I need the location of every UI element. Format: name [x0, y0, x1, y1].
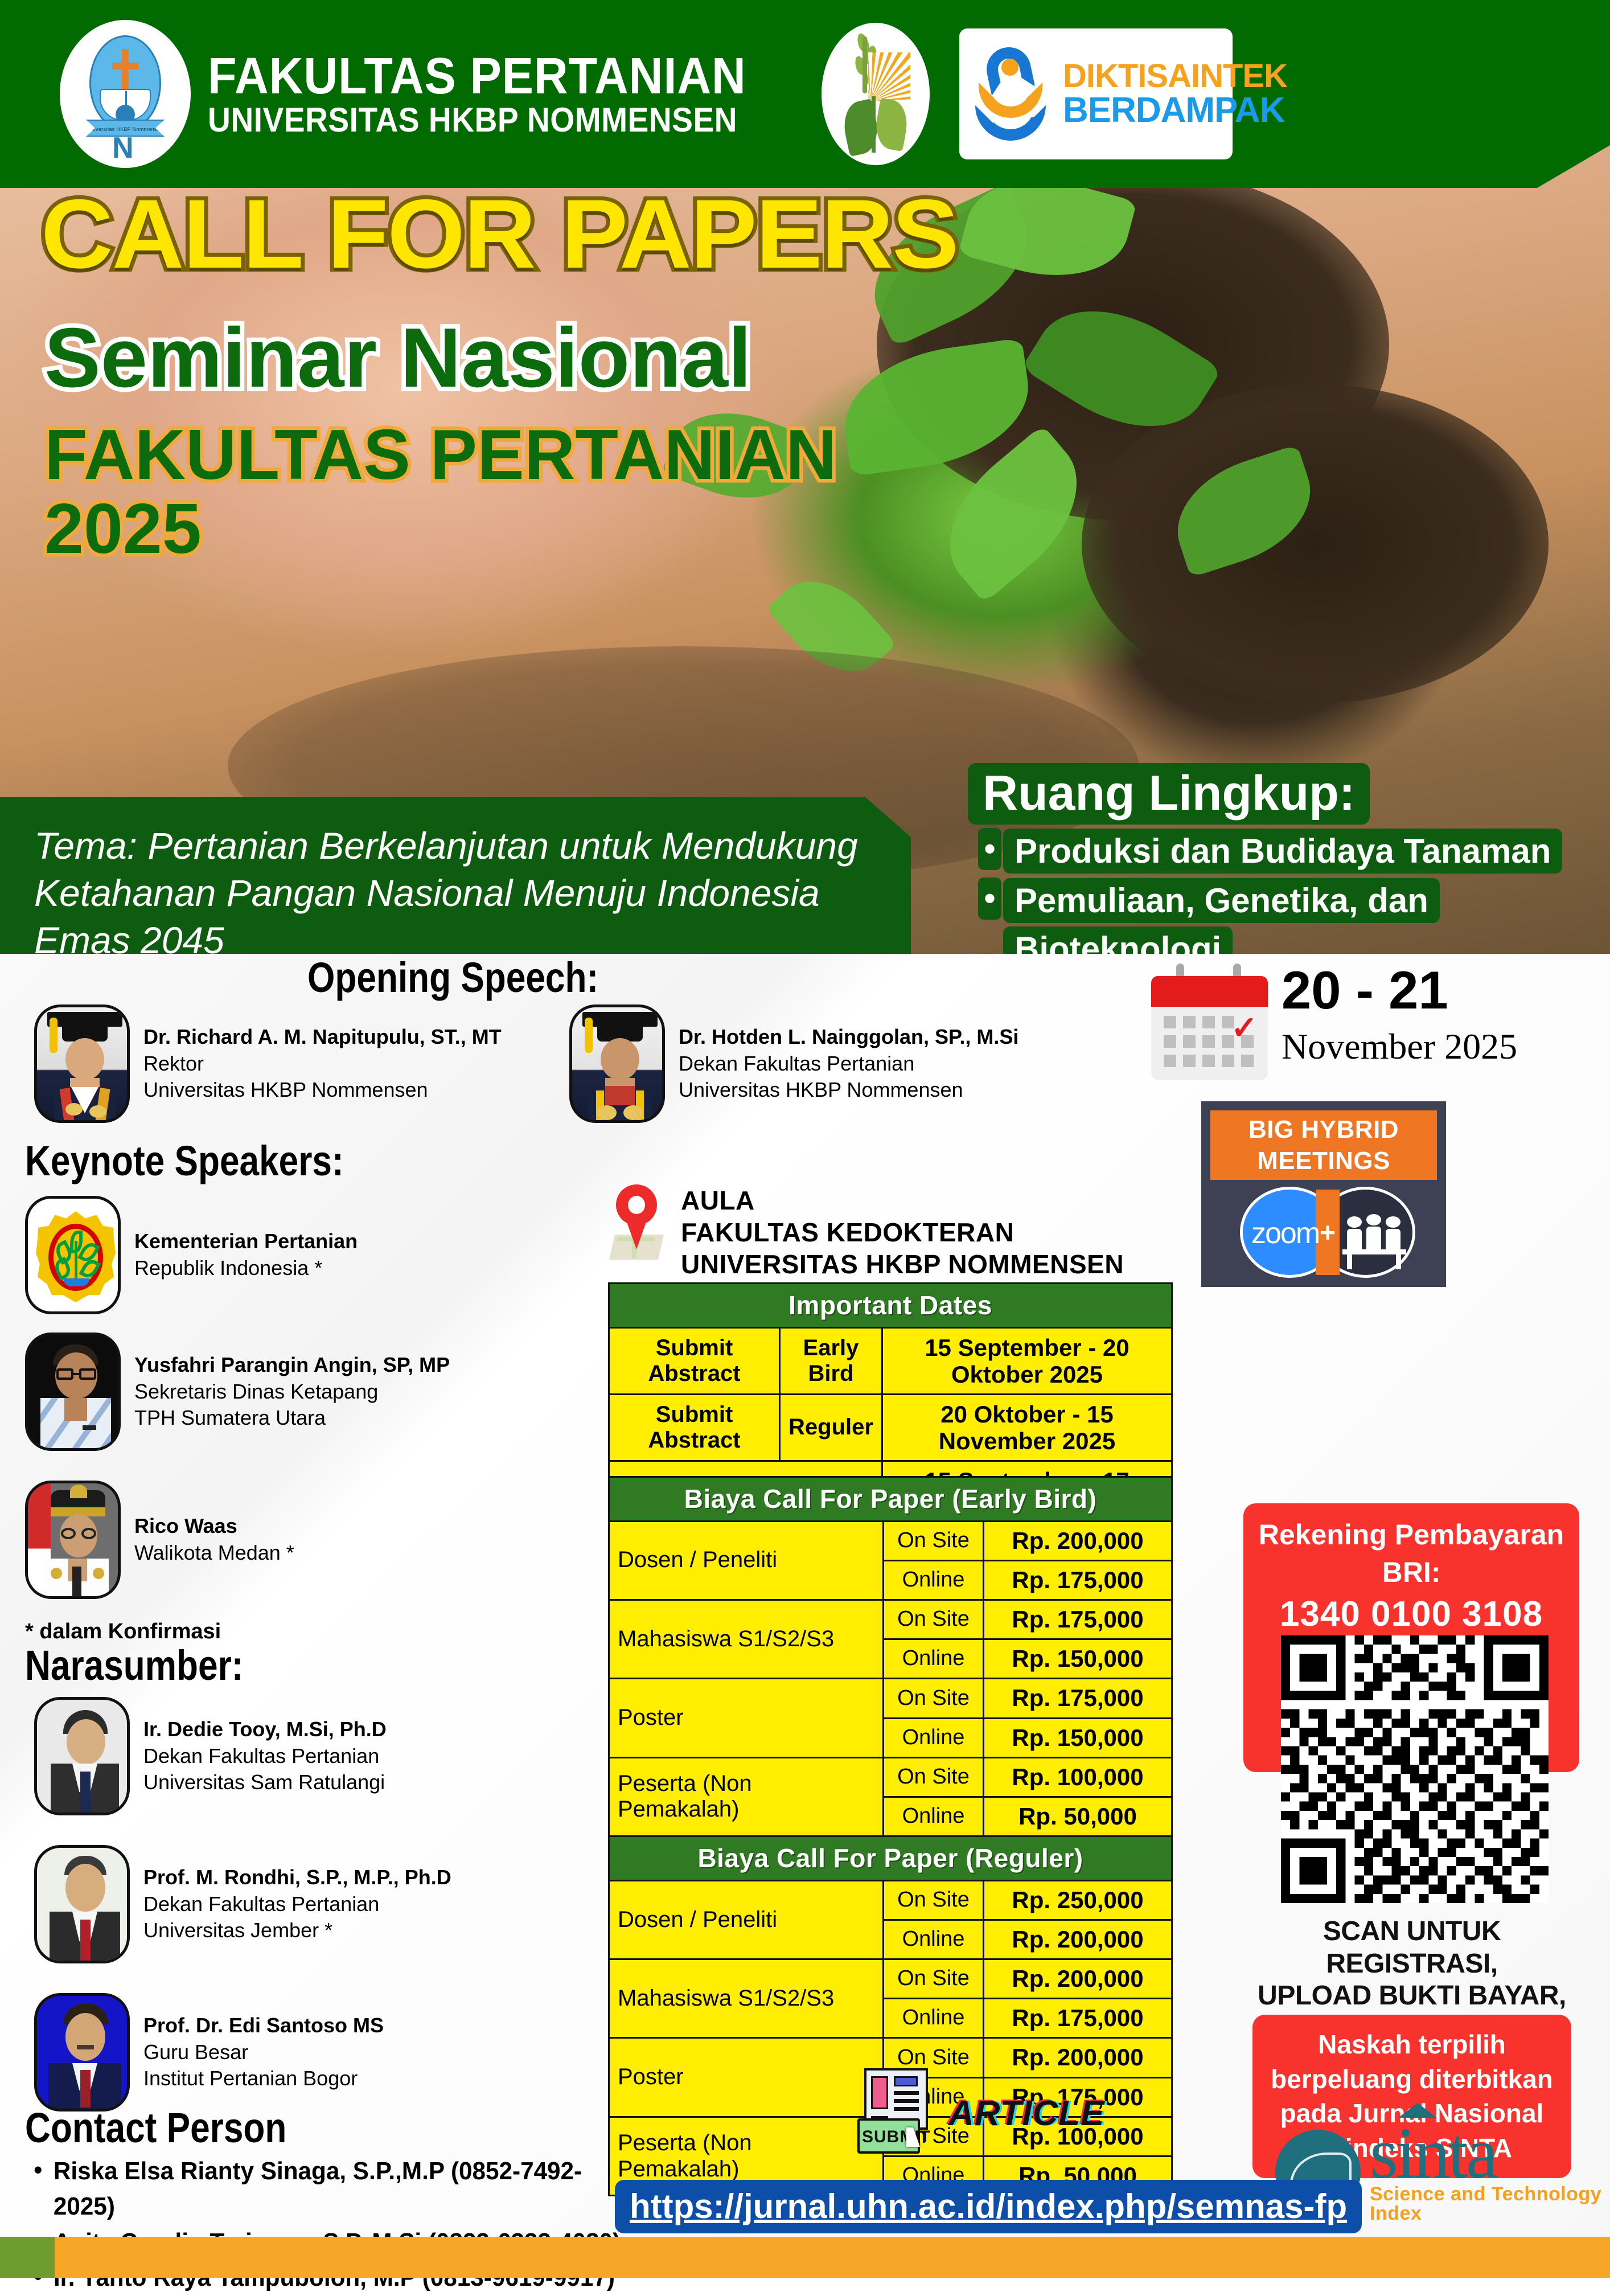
speaker-org: Universitas HKBP Nommensen	[679, 1077, 1018, 1104]
diktisaintek-label: DIKTISAINTEK	[1063, 60, 1287, 93]
registration-qr-code[interactable]	[1281, 1635, 1549, 1906]
narasumber-3: Prof. Dr. Edi Santoso MS Guru Besar Inst…	[34, 1993, 384, 2111]
fee-mode: On Site	[884, 1959, 984, 1999]
event-date-block: ✓ 20 - 21 November 2025	[1151, 963, 1517, 1080]
opening-speaker-1: Dr. Richard A. M. Napitupulu, ST., MT Re…	[34, 1004, 547, 1123]
scope-title: Ruang Lingkup:	[968, 763, 1370, 825]
zoom-hybrid-venn-icon: zoom +	[1210, 1187, 1437, 1278]
speaker-name: Ir. Dedie Tooy, M.Si, Ph.D	[143, 1716, 387, 1743]
venue-block: AULA FAKULTAS KEDOKTERAN UNIVERSITAS HKB…	[609, 1184, 1124, 1280]
footer-bar	[0, 2237, 1610, 2278]
keynote-speakers-heading: Keynote Speakers:	[25, 1140, 344, 1182]
hero-banner: CALL FOR PAPERS Seminar Nasional FAKULTA…	[0, 145, 1610, 954]
journal-url-link[interactable]: https://jurnal.uhn.ac.id/index.php/semna…	[615, 2180, 1362, 2233]
speaker-name: Prof. Dr. Edi Santoso MS	[143, 2012, 384, 2039]
speaker-role: Republik Indonesia *	[134, 1255, 358, 1282]
fee-table-title-reguler: Biaya Call For Paper (Reguler)	[609, 1836, 1172, 1881]
contact-person-heading: Contact Person	[25, 2107, 286, 2149]
narasumber-heading: Narasumber:	[25, 1645, 243, 1687]
table-row: Poster On Site Rp. 175,000	[609, 1679, 1172, 1718]
speaker-role: Sekretaris Dinas Ketapang	[134, 1379, 450, 1405]
main-content: Opening Speech: Dr. Richard A. M. Napitu…	[0, 952, 1610, 2278]
scope-section: Ruang Lingkup: Produksi dan Budidaya Tan…	[968, 763, 1586, 954]
speaker-name: Rico Waas	[134, 1513, 294, 1540]
fee-amount: Rp. 175,000	[984, 1679, 1172, 1718]
avatar	[34, 1697, 130, 1815]
speaker-role: Guru Besar	[143, 2039, 384, 2066]
fee-amount: Rp. 150,000	[984, 1639, 1172, 1679]
theme-box: Tema: Pertanian Berkelanjutan untuk Mend…	[0, 797, 911, 954]
fee-mode: Online	[884, 1797, 984, 1836]
uhn-university-logo: Universitas HKBP Nommensen N	[60, 20, 191, 168]
plus-label: +	[1320, 1217, 1336, 1249]
speaker-name: Dr. Hotden L. Nainggolan, SP., M.Si	[679, 1024, 1018, 1051]
theme-text: Tema: Pertanian Berkelanjutan untuk Mend…	[34, 822, 865, 954]
speaker-role: Dekan Fakultas Pertanian	[143, 1743, 387, 1770]
people-icon	[1347, 1212, 1415, 1257]
page-header: Universitas HKBP Nommensen N FAKULTAS PE…	[0, 0, 1610, 188]
important-dates-title: Important Dates	[609, 1284, 1172, 1328]
fee-amount: Rp. 200,000	[984, 1521, 1172, 1560]
seminar-title: Seminar Nasional	[44, 316, 751, 400]
faculty-title: FAKULTAS PERTANIAN	[208, 51, 746, 101]
fee-category: Poster	[609, 1679, 884, 1757]
confirmation-footnote: * dalam Konfirmasi	[25, 1619, 221, 1644]
faculty-subtitle: FAKULTAS PERTANIAN	[44, 419, 837, 492]
fee-amount: Rp. 175,000	[984, 1560, 1172, 1600]
speaker-role: Dekan Fakultas Pertanian	[679, 1051, 1018, 1077]
avatar	[569, 1004, 665, 1123]
table-row: Submit Abstract Reguler 20 Oktober - 15 …	[609, 1394, 1172, 1461]
date-value: 20 Oktober - 15 November 2025	[882, 1394, 1172, 1461]
opening-speaker-2: Dr. Hotden L. Nainggolan, SP., M.Si Deka…	[569, 1004, 1139, 1123]
narasumber-2: Prof. M. Rondhi, S.P., M.P., Ph.D Dekan …	[34, 1845, 451, 1963]
speaker-name: Kementerian Pertanian	[134, 1228, 358, 1255]
sinta-wordmark: sinta	[1370, 2122, 1610, 2184]
fee-amount: Rp. 200,000	[984, 1920, 1172, 1959]
avatar	[34, 1845, 130, 1963]
bank-label: Rekening Pembayaran BRI:	[1258, 1516, 1564, 1591]
fee-category: Dosen / Peneliti	[609, 1880, 884, 1959]
avatar	[25, 1481, 121, 1599]
hybrid-title: BIG HYBRID MEETINGS	[1210, 1110, 1437, 1180]
speaker-org: Universitas Sam Ratulangi	[143, 1769, 387, 1796]
table-row: Peserta (Non Pemakalah) On Site Rp. 100,…	[609, 1757, 1172, 1797]
fee-mode: Online	[884, 1920, 984, 1959]
fee-amount: Rp. 50,000	[984, 1797, 1172, 1836]
date-kind: Reguler	[780, 1394, 882, 1461]
fee-amount: Rp. 100,000	[984, 1757, 1172, 1797]
submit-document-icon: SUBMIT	[854, 2068, 939, 2159]
fee-mode: On Site	[884, 1880, 984, 1920]
fee-mode: Online	[884, 1999, 984, 2038]
call-for-papers-title: CALL FOR PAPERS	[41, 185, 958, 283]
speaker-name: Prof. M. Rondhi, S.P., M.P., Ph.D	[143, 1864, 451, 1891]
fee-mode: On Site	[884, 1600, 984, 1639]
speaker-name: Dr. Richard A. M. Napitupulu, ST., MT	[143, 1024, 502, 1051]
speaker-org: Universitas Jember *	[143, 1917, 451, 1944]
keynote-speaker-1: Kementerian Pertanian Republik Indonesia…	[25, 1196, 358, 1314]
speaker-org: Universitas HKBP Nommensen	[143, 1077, 502, 1104]
agriculture-wheat-icon	[822, 23, 930, 165]
fee-category: Dosen / Peneliti	[609, 1521, 884, 1600]
venue-line-1: AULA	[681, 1184, 1124, 1216]
article-label: ARTICLE	[948, 2096, 1105, 2131]
speaker-role: Walikota Medan *	[134, 1540, 294, 1567]
scope-item: Pemuliaan, Genetika, dan Bioteknologi	[968, 876, 1586, 954]
fee-category: Mahasiswa S1/S2/S3	[609, 1959, 884, 2038]
kementerian-pertanian-logo-icon	[25, 1196, 121, 1314]
fee-mode: Online	[884, 1718, 984, 1757]
fee-mode: On Site	[884, 1757, 984, 1797]
date-kind: Early Bird	[780, 1327, 882, 1394]
avatar	[34, 1993, 130, 2111]
venue-line-2: FAKULTAS KEDOKTERAN	[681, 1216, 1124, 1248]
footer-left-accent	[0, 2237, 55, 2278]
table-row: Mahasiswa S1/S2/S3 On Site Rp. 175,000	[609, 1600, 1172, 1639]
date-item: Submit Abstract	[609, 1327, 780, 1394]
table-row: Dosen / Peneliti On Site Rp. 200,000	[609, 1521, 1172, 1560]
fee-mode: On Site	[884, 1521, 984, 1560]
fee-table-title-earlybird: Biaya Call For Paper (Early Bird)	[609, 1477, 1172, 1522]
event-year: 2025	[44, 493, 202, 566]
location-pin-icon	[609, 1184, 664, 1258]
fee-category: Peserta (Non Pemakalah)	[609, 1757, 884, 1836]
speaker-org: TPH Sumatera Utara	[134, 1405, 450, 1432]
speaker-name: Yusfahri Parangin Angin, SP, MP	[134, 1352, 450, 1379]
date-value: 15 September - 20 Oktober 2025	[882, 1327, 1172, 1394]
event-days: 20 - 21	[1282, 963, 1517, 1017]
narasumber-1: Ir. Dedie Tooy, M.Si, Ph.D Dekan Fakulta…	[34, 1697, 387, 1815]
fee-category: Mahasiswa S1/S2/S3	[609, 1600, 884, 1678]
fee-amount: Rp. 150,000	[984, 1718, 1172, 1757]
table-row: Dosen / Peneliti On Site Rp. 250,000	[609, 1880, 1172, 1920]
speaker-role: Rektor	[143, 1051, 502, 1077]
keynote-speaker-3: Rico Waas Walikota Medan *	[25, 1481, 294, 1599]
diktisaintek-berdampak-logo: DIKTISAINTEK BERDAMPAK	[959, 28, 1233, 159]
scope-item: Produksi dan Budidaya Tanaman	[968, 827, 1586, 875]
fee-mode: Online	[884, 1560, 984, 1600]
fee-mode: Online	[884, 1639, 984, 1679]
scope-list: Produksi dan Budidaya Tanaman Pemuliaan,…	[968, 827, 1586, 954]
submit-article-badge: SUBMIT ARTICLE	[854, 2068, 1105, 2159]
venue-line-3: UNIVERSITAS HKBP NOMMENSEN	[681, 1248, 1124, 1280]
avatar	[25, 1332, 121, 1451]
table-row: Mahasiswa S1/S2/S3 On Site Rp. 200,000	[609, 1959, 1172, 1999]
submit-button-label[interactable]: SUBMIT	[862, 2127, 931, 2147]
table-row: Submit Abstract Early Bird 15 September …	[609, 1327, 1172, 1394]
opening-speech-heading: Opening Speech:	[307, 957, 598, 999]
speaker-role: Dekan Fakultas Pertanian	[143, 1891, 451, 1918]
fee-amount: Rp. 175,000	[984, 1600, 1172, 1639]
contact-item: Riska Elsa Rianty Sinaga, S.P.,M.P (0852…	[25, 2154, 626, 2225]
date-item: Submit Abstract	[609, 1394, 780, 1461]
event-month-year: November 2025	[1282, 1025, 1517, 1069]
fee-category: Poster	[609, 2038, 884, 2117]
fee-amount: Rp. 250,000	[984, 1880, 1172, 1920]
berdampak-label: BERDAMPAK	[1063, 93, 1287, 128]
hybrid-meeting-card: BIG HYBRID MEETINGS zoom +	[1201, 1101, 1446, 1287]
calendar-icon: ✓	[1151, 963, 1268, 1080]
fee-amount: Rp. 200,000	[984, 1959, 1172, 1999]
speaker-org: Institut Pertanian Bogor	[143, 2065, 384, 2092]
fee-amount: Rp. 175,000	[984, 1999, 1172, 2038]
fee-mode: On Site	[884, 1679, 984, 1718]
keynote-speaker-2: Yusfahri Parangin Angin, SP, MP Sekretar…	[25, 1332, 450, 1451]
avatar	[34, 1004, 130, 1123]
university-title: UNIVERSITAS HKBP NOMMENSEN	[208, 104, 746, 137]
zoom-label: zoom	[1251, 1216, 1319, 1250]
